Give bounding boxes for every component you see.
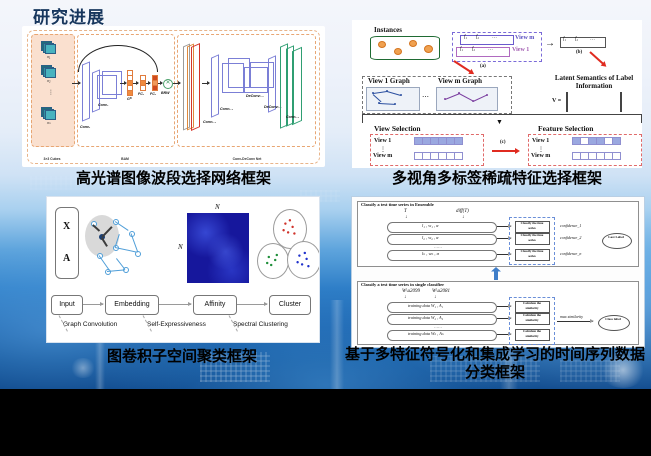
fc1-bar [140,85,146,91]
arrow-conv-to-gb [120,83,126,84]
pipeline-box-embedding: Embedding [105,295,159,315]
arrow-fc2-to-brw [158,83,162,84]
conv2-label: Conv₂ [98,103,108,107]
conv1-label: Conv₁ [80,125,90,129]
input-label-x2: x₂ [47,78,51,83]
instance-dot [424,45,433,53]
pipeline-arrow-1 [83,304,103,305]
view-m-row [460,35,514,45]
edge-label-spectral-clustering: Spectral Clustering [233,321,288,328]
fs-row-view1: View 1 [532,138,549,144]
pipeline-arrow-3 [237,304,267,305]
instance-dot [394,48,402,55]
top-row-label: lₙ , wₙ , α [422,251,439,257]
view-m-f2: f₂ [476,35,479,40]
classify-box-label: Classify the time series [517,233,547,243]
down-arrow-diffT: ↓ [462,215,465,220]
conv-l1-label: Convₗ₋₁ [203,120,216,124]
confidence-label: confidence_n [560,251,581,256]
cluster-points-blue [294,249,312,271]
fs-row-viewm: View m [531,153,550,159]
latent-semantics-title: Latent Semantics of Label Information [548,74,640,90]
arrow-conv-stage1 [202,83,209,84]
view-1-ellipsis: ⋯ [488,47,493,53]
affinity-axis-top: N [215,203,220,211]
brw-label: BRW [161,91,170,95]
bottom-row-label: training data Wₙ , Aₙ [408,331,444,336]
step-c-label: (c) [500,140,506,145]
panel-ensemble-title: Classify a test time series in Ensemble [361,202,434,207]
arrow-brw-to-convnet [173,83,180,84]
view-1-graph-title: View 1 Graph [368,77,410,85]
classify-box-label: Classify the time series [517,221,547,231]
input-xa-box [55,207,79,279]
letterbox-bottom [0,389,651,456]
arrow-to-latent: → [545,38,555,49]
similarity-box-label: Calculate the similarity [517,329,547,339]
cluster-points-green [264,251,280,271]
input-label-ellipsis: ⋮ [48,89,54,96]
latent-vector-box [560,37,606,48]
figure-timeseries-ensemble: Classify a test time series in Ensemble … [351,196,645,348]
input-label-x1: x₁ [47,54,50,59]
symbol-W1: W\u2081 [432,289,450,294]
figure-hyperspectral-band-selection: x₁ x₂ ⋮ xₙ 3×3 Cubes BAM Conv-DeConv Net… [22,26,325,167]
latent-f1: f₁ [563,37,566,42]
step-b-label: (b) [576,50,582,55]
fc2-label: FC₂ [150,92,156,96]
gb-label: Gᴮ [127,97,132,101]
down-arrow-w1: ↓ [434,295,437,300]
max-similarity-arrow [557,321,593,322]
fc2-bar [152,85,158,91]
view-selection-title: View Selection [374,124,421,133]
down-arrow-wn: ↓ [404,295,407,300]
input-symbol-x: X [63,221,70,232]
result-label-bottom: Class label [600,317,626,322]
instance-dot [378,41,386,48]
vs-cell [454,137,463,145]
vs-row-view1: View 1 [374,138,391,144]
conv2-box-back [102,71,122,95]
view-m-graph-title: View m Graph [438,77,482,85]
brace-arrow-down: ▼ [496,118,503,126]
input-cube [41,107,54,118]
stack-plate-red [191,43,200,131]
result-label-top: Last Label [604,235,628,240]
figure-outer-dashed-border: x₁ x₂ ⋮ xₙ 3×3 Cubes BAM Conv-DeConv Net… [27,30,320,164]
input-cube [41,65,54,76]
section-label-bam: BAM [77,157,173,161]
input-label-xn: xₙ [47,120,51,125]
symbol-diffT: diff(T) [456,209,469,214]
output-plate-green [292,47,302,125]
instance-dot [409,40,417,47]
bottom-row-label: training data W₂ , A₂ [408,315,443,320]
bottom-row-label: training data W₁ , A₁ [408,303,443,308]
confidence-label: confidence_2 [560,235,581,240]
graph-edge [99,255,110,270]
top-row-label: l₂ , w₂ , α [422,235,439,240]
bottom-rows-ellipsis: …… [434,324,442,329]
top-row-label: l₁ , w₁ , α [422,223,439,228]
arrow-to-latent-semantics [589,51,605,66]
figure-caption-4: 基于多特征符号化和集成学习的时间序列数据分类框架 [345,346,645,381]
vs-cell [454,152,463,160]
view-m-label: View m [515,35,534,41]
pipeline-box-cluster: Cluster [269,295,311,315]
latent-f2: f₂ [575,37,578,42]
deconv-l2-label: DeConvₗ₋₂ [246,94,264,98]
classify-box-label: Classify the time series [517,249,547,259]
view-1-f2: f₂ [472,47,475,52]
deconv-l1-label: DeConvₗ₋₁ [264,105,282,109]
fs-cell [612,137,621,145]
instances-label: Instances [374,26,402,34]
vs-row-ellipsis: ⋮ [380,146,386,153]
view-1-label: View 1 [512,47,529,53]
step-a-label: (a) [480,64,486,69]
brw-multiply-icon: ✕ [163,79,173,89]
output-conv-label: Convₗ₋₁ [286,115,299,119]
max-similarity-label: max similarity [560,314,583,319]
edge-label-graph-convolution: Graph Convolution [63,321,117,328]
pipeline-box-input: Input [51,295,83,315]
view-m-f1: f₁ [464,35,467,40]
edge-label-self-expressiveness: Self-Expressiveness [147,321,206,328]
figure-caption-2: 多视角多标签稀疏特征选择框架 [352,170,642,188]
input-symbol-a: A [63,253,70,264]
arrow-step-c [492,150,518,152]
latent-matrix [566,92,622,112]
affinity-axis-left: N [178,243,183,251]
figure-caption-1: 高光谱图像波段选择网络框架 [22,170,325,188]
similarity-box-label: Calculate the similarity [517,301,547,311]
affinity-matrix [187,213,249,283]
vs-row-viewm: View m [373,153,392,159]
confidence-label: confidence_1 [560,223,581,228]
section-label-cubes: 3×3 Cubes [31,157,73,161]
figure-multiview-multilabel: Instances f₁ f₂ ⋯ View m f₁ f₂ ⋯ View 1 … [352,20,642,168]
down-arrow-T: ↓ [405,215,408,220]
pipeline-arrow-2 [159,304,191,305]
view-m-ellipsis: ⋯ [492,35,497,41]
figure-graph-conv-subspace-clustering: X A N N Input Em [46,196,320,343]
view-1-row [456,47,510,57]
section-label-convdeconv: Conv-DeConv Net [177,157,317,161]
graph-edge [116,258,125,270]
latent-ellipsis: ⋯ [590,37,595,43]
view-1-f1: f₁ [460,47,463,52]
bg-lightbar-2 [330,300,344,389]
cluster-points-red [280,217,298,239]
symbol-T: T [404,209,407,214]
input-cube [41,41,54,52]
arrow-input-to-conv1 [72,83,80,84]
top-row-pill [387,234,497,245]
similarity-box-label: Calculate the similarity [517,313,547,323]
fc1-label: FC₁ [138,92,144,96]
panel-connector-arrow [491,267,501,280]
fs-row-ellipsis: ⋮ [538,146,544,153]
symbol-Wn: W\u2099 [402,289,420,294]
arrow-fc1-to-fc2 [146,83,150,84]
top-rows-ellipsis: …… [434,244,442,249]
slide-title: 研究进展 [33,3,105,28]
gb-bar [127,90,133,96]
conv-l2-label: Convₗ₋₂ [220,107,233,111]
arrow-gb-to-fc1 [133,83,138,84]
pipeline-box-affinity: Affinity [193,295,237,315]
graphs-ellipsis: ⋯ [422,93,429,101]
arrow-step-a [453,60,473,74]
conv-plate-2 [211,54,219,118]
view-1-graph-panel [366,87,420,111]
panel-single-title: Classify a test time series in single cl… [361,282,444,287]
presentation-slide: 研究进展 x₁ x₂ ⋮ xₙ 3×3 Cubes BAM Conv-DeCon… [0,0,651,389]
top-row-pill [387,250,497,261]
matrix-symbol: V = [552,98,561,104]
fs-cell [612,152,621,160]
top-row-pill [387,222,497,233]
figure-caption-3: 图卷积子空间聚类框架 [46,348,318,366]
feature-selection-title: Feature Selection [538,124,593,133]
